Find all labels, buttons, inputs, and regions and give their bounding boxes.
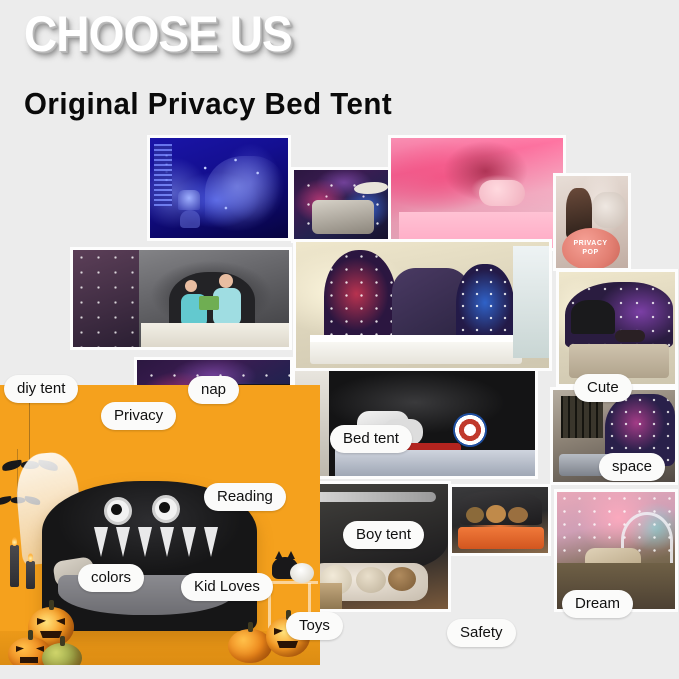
photo-black-bed-tent	[295, 371, 535, 476]
label-colors: colors	[78, 564, 144, 592]
monster-tooth-icon	[160, 527, 174, 557]
monster-eye-left-icon	[104, 497, 132, 525]
skull-decoration	[290, 563, 314, 583]
label-reading: Reading	[204, 483, 286, 511]
candle	[10, 545, 19, 587]
pumpkin-green	[42, 643, 82, 665]
photo-woman-privacy-pop: PRIVACY POP	[556, 176, 628, 268]
label-boy-tent: Boy tent	[343, 521, 424, 549]
monster-tooth-icon	[138, 527, 152, 557]
label-diy-tent: diy tent	[4, 375, 78, 403]
photo-galaxy-tent-cute	[559, 272, 675, 384]
label-toys: Toys	[286, 612, 343, 640]
label-kid-loves: Kid Loves	[181, 573, 273, 601]
infographic-canvas: CHOOSE US Original Privacy Bed Tent PRIV…	[0, 0, 679, 679]
label-space: space	[599, 453, 665, 481]
label-dream: Dream	[562, 590, 633, 618]
monster-eye-right-icon	[152, 495, 180, 523]
page-subheadline: Original Privacy Bed Tent	[24, 86, 392, 122]
label-safety: Safety	[447, 619, 516, 647]
monster-tooth-icon	[116, 527, 130, 557]
photo-safety-tent	[452, 487, 548, 553]
label-nap: nap	[188, 376, 239, 404]
label-privacy: Privacy	[101, 402, 176, 430]
privacy-pop-badge: PRIVACY POP	[562, 228, 620, 268]
label-cute: Cute	[574, 374, 632, 402]
candle	[26, 561, 35, 589]
page-headline: CHOOSE US	[24, 8, 292, 61]
monster-tooth-icon	[94, 527, 108, 557]
photo-galaxy-tent-bunk	[296, 242, 549, 368]
photo-kids-reading-tent	[73, 250, 289, 347]
monster-tooth-icon	[182, 527, 196, 557]
photo-blue-glow-tent	[150, 138, 288, 238]
photo-galaxy-tent-interior	[294, 170, 394, 240]
photo-pink-bed-tent	[391, 138, 563, 248]
privacy-pop-badge-line2: POP	[582, 249, 598, 258]
monster-tooth-icon	[204, 527, 218, 557]
label-bed-tent: Bed tent	[330, 425, 412, 453]
privacy-pop-badge-line1: PRIVACY	[573, 240, 607, 249]
